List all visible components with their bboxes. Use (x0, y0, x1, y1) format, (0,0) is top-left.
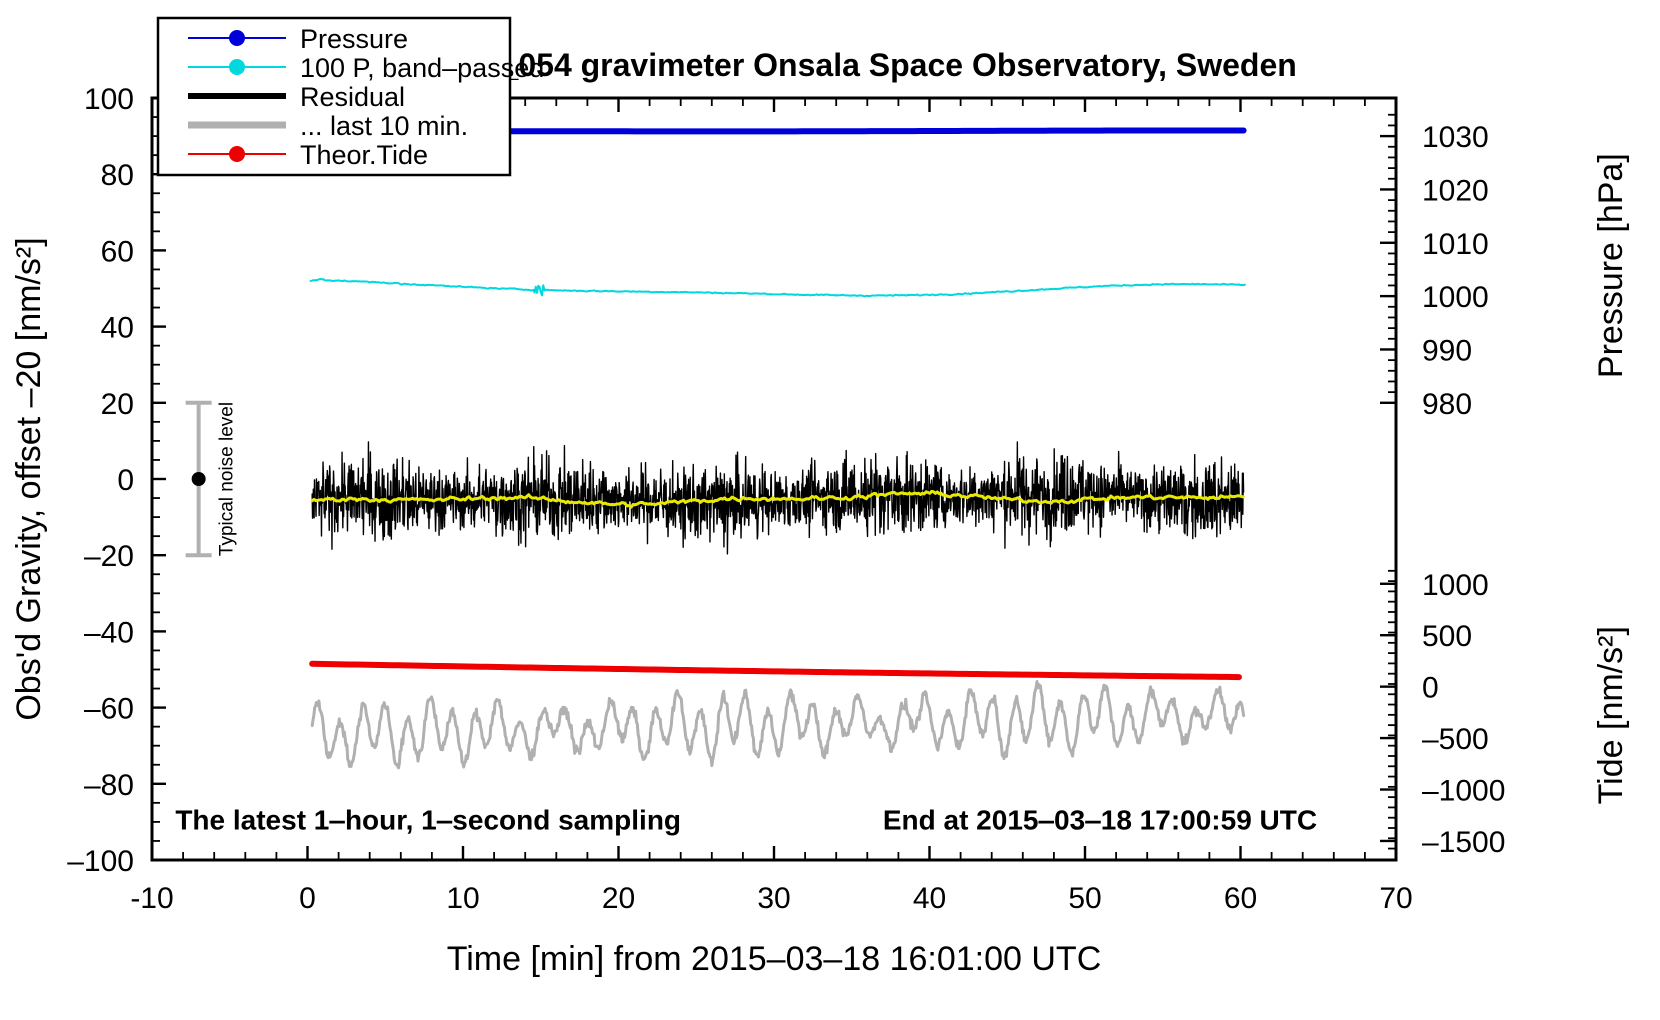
pressure-tick-label: 1000 (1422, 281, 1489, 314)
pressure-axis-title: Pressure [hPa] (1592, 153, 1630, 378)
series-pressure-bandpassed (311, 279, 1245, 296)
y-tick-label: 80 (101, 159, 134, 192)
pressure-tick-label: 990 (1422, 334, 1472, 367)
y-tick-label: 100 (84, 83, 134, 116)
pressure-tick-label: 980 (1422, 388, 1472, 421)
y-tick-label: 20 (101, 388, 134, 421)
x-tick-label: 60 (1224, 882, 1257, 915)
chart-page: -10010203040506070100806040200‒20‒40‒60‒… (0, 0, 1660, 1020)
x-tick-label: 20 (602, 882, 635, 915)
y-tick-label: ‒100 (67, 845, 134, 878)
legend-label-4[interactable]: Theor.Tide (300, 140, 428, 170)
pressure-tick-label: 1020 (1422, 174, 1489, 207)
sampling-note: The latest 1‒hour, 1‒second sampling (175, 805, 681, 836)
legend-marker-0 (229, 30, 245, 46)
series-theoretical-tide (312, 664, 1239, 677)
y-tick-label: ‒20 (84, 540, 134, 573)
pressure-tick-label: 1010 (1422, 228, 1489, 261)
chart-title: SCG_054 gravimeter Onsala Space Observat… (431, 47, 1297, 83)
y-tick-label: 60 (101, 235, 134, 268)
y-tick-label: ‒40 (84, 616, 134, 649)
tide-tick-label: 500 (1422, 620, 1472, 653)
series-residual-last10min (312, 682, 1243, 768)
x-tick-label: 70 (1379, 882, 1412, 915)
tide-axis-title: Tide [nm/s²] (1592, 626, 1630, 804)
gravimeter-chart: -10010203040506070100806040200‒20‒40‒60‒… (0, 0, 1660, 1020)
tide-tick-label: ‒1000 (1422, 775, 1505, 808)
tide-tick-label: 1000 (1422, 569, 1489, 602)
legend-label-1[interactable]: 100 P, band‒passed (300, 53, 544, 83)
legend-marker-4 (229, 146, 245, 162)
x-tick-label: 50 (1068, 882, 1101, 915)
x-tick-label: 0 (299, 882, 316, 915)
pressure-tick-label: 1030 (1422, 121, 1489, 154)
tide-tick-label: ‒500 (1422, 723, 1489, 756)
x-tick-label: -10 (130, 882, 173, 915)
y-axis-title: Obs'd Gravity, offset ‒20 [nm/s²] (10, 237, 48, 720)
y-tick-label: 40 (101, 312, 134, 345)
x-tick-label: 40 (913, 882, 946, 915)
end-time-note: End at 2015‒03‒18 17:00:59 UTC (883, 805, 1317, 836)
y-tick-label: ‒60 (84, 693, 134, 726)
x-tick-label: 30 (757, 882, 790, 915)
tide-tick-label: ‒1500 (1422, 826, 1505, 859)
legend-marker-1 (229, 59, 245, 75)
y-tick-label: 0 (117, 464, 134, 497)
legend-label-2[interactable]: Residual (300, 82, 405, 112)
legend-label-0[interactable]: Pressure (300, 24, 408, 54)
legend-label-3[interactable]: ... last 10 min. (300, 111, 468, 141)
noise-level-label: Typical noise level (217, 402, 238, 556)
y-tick-label: ‒80 (84, 769, 134, 802)
tide-tick-label: 0 (1422, 672, 1439, 705)
noise-level-dot (192, 472, 206, 486)
x-tick-label: 10 (446, 882, 479, 915)
x-axis-title: Time [min] from 2015‒03‒18 16:01:00 UTC (447, 940, 1102, 978)
